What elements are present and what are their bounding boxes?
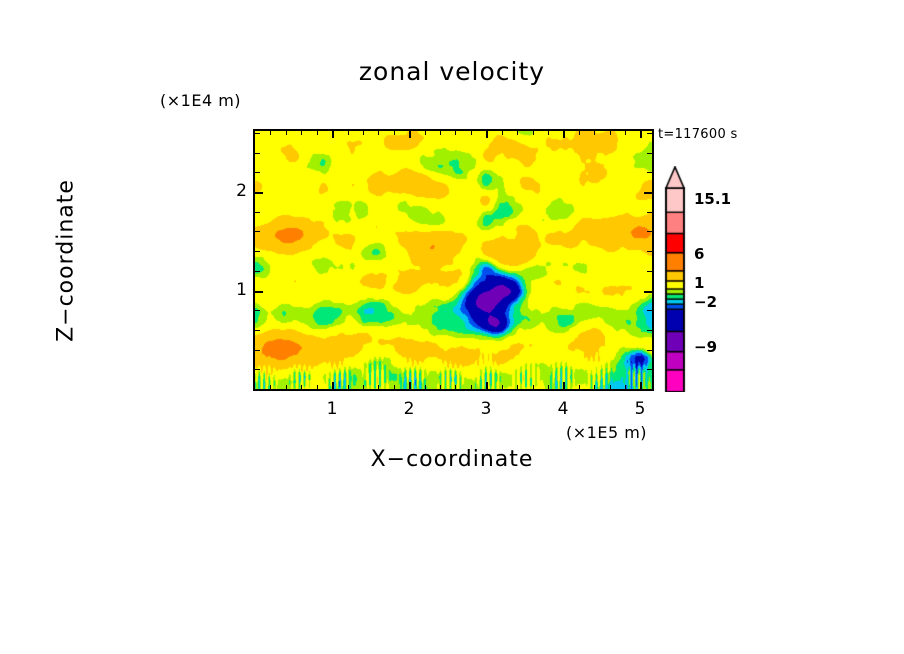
y-tick-minor	[255, 153, 260, 154]
y-tick-minor	[255, 133, 260, 134]
colorbar-tick-label: 1	[694, 274, 704, 292]
y-tick-minor-right	[647, 330, 652, 331]
x-tick-minor	[579, 385, 580, 389]
x-tick-minor-top	[425, 131, 426, 135]
page-title: zonal velocity	[0, 57, 904, 86]
y-tick-label: 1	[207, 280, 247, 300]
x-tick-minor-top	[594, 131, 595, 135]
x-tick-major-top	[486, 131, 488, 138]
x-tick-minor-top	[317, 131, 318, 135]
x-tick-minor	[440, 385, 441, 389]
x-tick-major	[332, 382, 334, 389]
x-tick-minor-top	[378, 131, 379, 135]
y-tick-minor-right	[647, 369, 652, 370]
y-tick-minor	[255, 212, 260, 213]
x-tick-minor-top	[286, 131, 287, 135]
y-tick-minor	[255, 350, 260, 351]
x-tick-minor	[548, 385, 549, 389]
y-tick-minor	[255, 251, 260, 252]
colorbar-tick-label: 6	[694, 245, 704, 263]
y-tick-minor-right	[647, 153, 652, 154]
x-tick-minor	[425, 385, 426, 389]
y-axis-title: Z−coordinate	[54, 131, 79, 391]
x-axis-unit-label: (×1E5 m)	[566, 423, 647, 442]
figure-canvas: zonal velocity (×1E4 m) t=117600 s Z−coo…	[0, 0, 904, 654]
x-tick-label: 4	[543, 399, 583, 419]
x-tick-minor-top	[517, 131, 518, 135]
x-tick-minor	[270, 385, 271, 389]
x-tick-minor-top	[610, 131, 611, 135]
x-tick-major	[409, 382, 411, 389]
x-tick-major-top	[640, 131, 642, 138]
x-tick-major-top	[563, 131, 565, 138]
x-tick-label: 2	[389, 399, 429, 419]
x-tick-major	[486, 382, 488, 389]
x-tick-minor-top	[548, 131, 549, 135]
y-tick-minor-right	[647, 350, 652, 351]
x-tick-minor-top	[348, 131, 349, 135]
y-tick-minor-right	[647, 251, 652, 252]
colorbar-tick-label: −9	[694, 338, 717, 356]
y-tick-minor-right	[647, 231, 652, 232]
x-tick-minor-top	[363, 131, 364, 135]
x-tick-minor-top	[502, 131, 503, 135]
x-tick-minor-top	[440, 131, 441, 135]
y-tick-major	[255, 291, 263, 293]
x-tick-minor-top	[471, 131, 472, 135]
y-tick-minor	[255, 330, 260, 331]
x-tick-minor-top	[533, 131, 534, 135]
x-tick-major	[640, 382, 642, 389]
x-tick-minor	[363, 385, 364, 389]
x-tick-minor	[471, 385, 472, 389]
x-tick-minor	[301, 385, 302, 389]
x-tick-minor-top	[625, 131, 626, 135]
x-tick-major-top	[332, 131, 334, 138]
y-axis-unit-label: (×1E4 m)	[160, 91, 241, 110]
y-tick-minor	[255, 172, 260, 173]
x-tick-minor	[625, 385, 626, 389]
x-tick-minor-top	[579, 131, 580, 135]
x-tick-minor-top	[394, 131, 395, 135]
x-tick-minor	[317, 385, 318, 389]
y-tick-major	[255, 192, 263, 194]
x-axis-title: X−coordinate	[0, 447, 904, 472]
y-tick-minor-right	[647, 212, 652, 213]
y-tick-minor	[255, 231, 260, 232]
x-tick-minor	[517, 385, 518, 389]
y-tick-minor-right	[647, 133, 652, 134]
x-tick-minor	[348, 385, 349, 389]
x-tick-minor-top	[301, 131, 302, 135]
x-tick-minor	[455, 385, 456, 389]
x-tick-label: 3	[466, 399, 506, 419]
x-tick-major	[563, 382, 565, 389]
timestamp-annotation: t=117600 s	[658, 127, 738, 142]
y-tick-minor-right	[647, 271, 652, 272]
y-tick-label: 2	[207, 181, 247, 201]
colorbar[interactable]	[660, 166, 694, 392]
x-tick-minor-top	[270, 131, 271, 135]
x-tick-minor	[610, 385, 611, 389]
y-tick-minor-right	[647, 310, 652, 311]
x-tick-minor-top	[455, 131, 456, 135]
y-tick-minor	[255, 369, 260, 370]
x-tick-major-top	[409, 131, 411, 138]
contour-field	[255, 131, 652, 389]
x-tick-minor	[394, 385, 395, 389]
x-tick-minor	[594, 385, 595, 389]
y-tick-minor-right	[647, 172, 652, 173]
x-tick-minor	[378, 385, 379, 389]
x-tick-minor	[533, 385, 534, 389]
y-tick-minor	[255, 271, 260, 272]
y-tick-major-right	[644, 192, 652, 194]
colorbar-swatches	[660, 166, 694, 392]
colorbar-tick-label: −2	[694, 293, 717, 311]
x-tick-label: 5	[620, 399, 660, 419]
x-tick-minor	[286, 385, 287, 389]
y-tick-major-right	[644, 291, 652, 293]
y-tick-minor	[255, 310, 260, 311]
x-tick-minor	[502, 385, 503, 389]
colorbar-tick-label: 15.1	[694, 190, 731, 208]
x-tick-label: 1	[312, 399, 352, 419]
